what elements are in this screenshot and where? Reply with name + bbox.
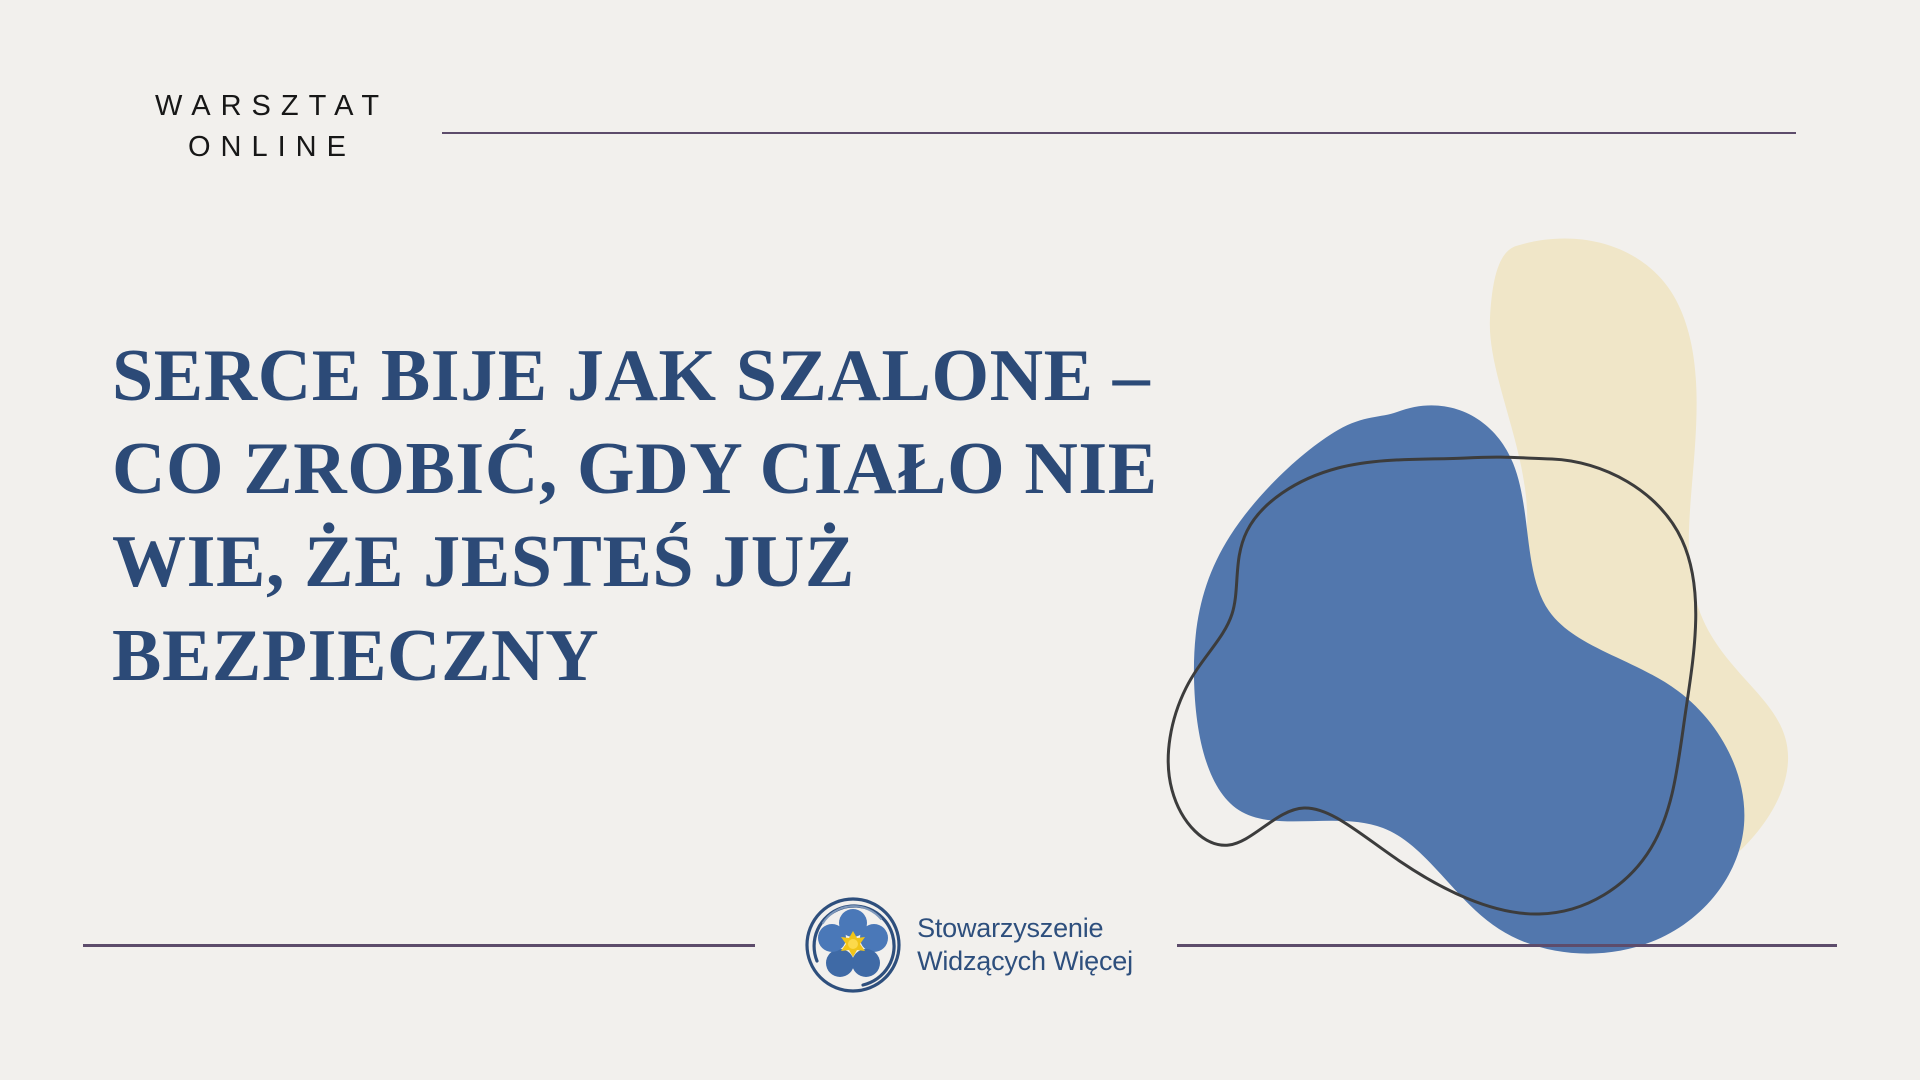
kicker-label: WARSZTAT ONLINE xyxy=(138,86,406,168)
kicker: WARSZTAT ONLINE xyxy=(138,86,1838,168)
footer-divider-left xyxy=(83,944,755,947)
forget-me-not-flower-icon xyxy=(801,893,905,997)
kicker-divider xyxy=(442,132,1796,134)
organization-name: Stowarzyszenie Widzących Więcej xyxy=(917,912,1133,979)
poster-canvas: WARSZTAT ONLINE SERCE BIJE JAK SZALONE –… xyxy=(0,0,1920,1080)
footer: Stowarzyszenie Widzących Więcej xyxy=(0,880,1920,1010)
headline-title: SERCE BIJE JAK SZALONE – CO ZROBIĆ, GDY … xyxy=(112,330,1352,703)
cream-blob-shape xyxy=(1466,239,1788,905)
footer-divider-right xyxy=(1177,944,1837,947)
organization-logo: Stowarzyszenie Widzących Więcej xyxy=(801,893,1133,997)
